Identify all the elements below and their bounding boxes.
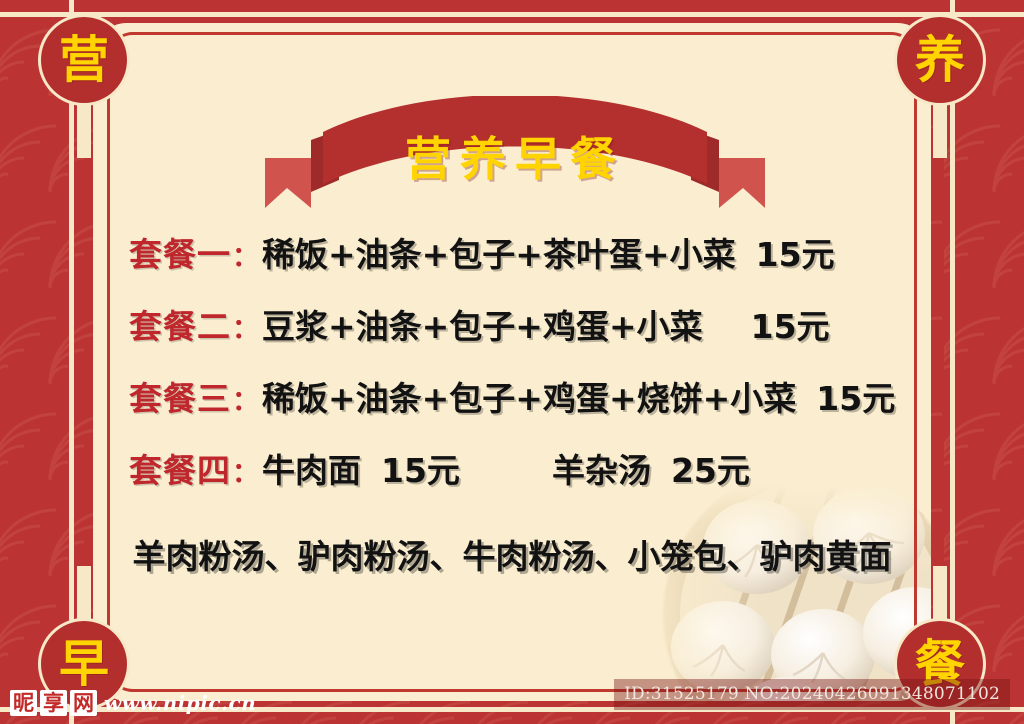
set-items: 稀饭+油条+包子+茶叶蛋+小菜 [262, 228, 736, 276]
poster-title: 营养早餐 [265, 96, 765, 220]
set-price-secondary: 25元 [671, 444, 750, 492]
set-price: 15元 [816, 372, 895, 420]
set-price: 15元 [381, 444, 460, 492]
menu-footer-items: 羊肉粉汤、驴肉粉汤、牛肉粉汤、小笼包、驴肉黄面 [93, 530, 931, 578]
menu-row: 套餐四 ： 牛肉面 15元 羊杂汤 25元 [93, 444, 931, 516]
watermark-id-text: ID:31525179 NO:20240426091348071102 [614, 679, 1010, 710]
set-colon: ： [231, 451, 262, 490]
set-label: 套餐四 [129, 444, 231, 492]
medallion-stem-bottom-right [933, 566, 947, 624]
menu-row: 套餐一 ： 稀饭+油条+包子+茶叶蛋+小菜 15元 [93, 228, 931, 300]
set-colon: ： [231, 307, 262, 346]
set-items: 稀饭+油条+包子+鸡蛋+烧饼+小菜 [262, 372, 796, 420]
set-label: 套餐二 [129, 300, 231, 348]
frame-hairline-right [950, 0, 955, 724]
watermark-logo: 昵 享 网 [10, 690, 97, 716]
menu-row: 套餐三 ： 稀饭+油条+包子+鸡蛋+烧饼+小菜 15元 [93, 372, 931, 444]
site-watermark: 昵 享 网 www.nipic.cn [10, 690, 256, 716]
poster-canvas: 营 养 早 餐 营养早餐 套餐一 ： 稀饭+油条+包子+茶叶蛋+小菜 15元 套… [0, 0, 1024, 724]
set-price: 15元 [751, 300, 830, 348]
menu-row: 套餐二 ： 豆浆+油条+包子+鸡蛋+小菜 15元 [93, 300, 931, 372]
set-items: 牛肉面 [262, 444, 361, 492]
menu-list: 套餐一 ： 稀饭+油条+包子+茶叶蛋+小菜 15元 套餐二 ： 豆浆+油条+包子… [93, 228, 931, 516]
steamed-bun-photo [637, 485, 931, 701]
corner-medallion-top-left: 营 [38, 14, 130, 106]
watermark-url: www.nipic.cn [104, 691, 256, 715]
medallion-stem-top-right [933, 100, 947, 158]
set-items-secondary: 羊杂汤 [552, 444, 651, 492]
set-colon: ： [231, 379, 262, 418]
corner-medallion-top-right: 养 [894, 14, 986, 106]
ribbon-banner: 营养早餐 [265, 96, 765, 220]
medallion-stem-top-left [77, 100, 91, 158]
medallion-stem-bottom-left [77, 566, 91, 624]
set-items: 豆浆+油条+包子+鸡蛋+小菜 [262, 300, 703, 348]
watermark-logo-char: 昵 [10, 690, 37, 716]
set-price: 15元 [756, 228, 835, 276]
set-label: 套餐一 [129, 228, 231, 276]
frame-hairline-left [69, 0, 74, 724]
watermark-logo-char: 网 [70, 690, 97, 716]
photo-fade-mask [637, 485, 931, 701]
frame-hairline-top [0, 12, 1024, 17]
set-colon: ： [231, 235, 262, 274]
watermark-logo-char: 享 [40, 690, 67, 716]
set-label: 套餐三 [129, 372, 231, 420]
